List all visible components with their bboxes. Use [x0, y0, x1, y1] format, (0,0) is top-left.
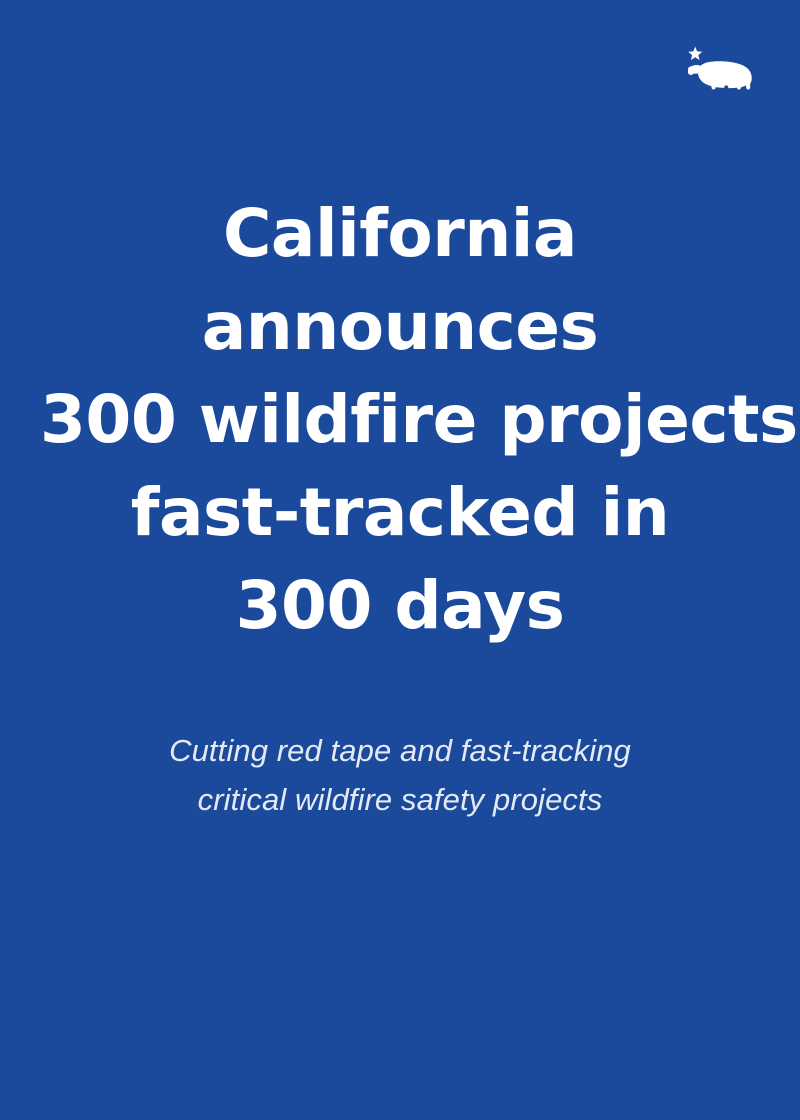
- page-title: California announces 300 wildfire projec…: [40, 187, 760, 652]
- headline-line-5: 300 days: [40, 559, 760, 652]
- headline-line-2: announces: [40, 280, 760, 373]
- headline-line-3: 300 wildfire projects: [40, 373, 760, 466]
- subhead-line-1: Cutting red tape and fast-tracking: [40, 726, 760, 775]
- subhead-line-2: critical wildfire safety projects: [40, 775, 760, 824]
- poster-content: California announces 300 wildfire projec…: [0, 0, 800, 1120]
- headline-line-1: California: [40, 187, 760, 280]
- page-subtitle: Cutting red tape and fast-tracking criti…: [40, 726, 760, 824]
- headline-line-4: fast-tracked in: [40, 466, 760, 559]
- announcement-poster: California announces 300 wildfire projec…: [0, 0, 800, 1120]
